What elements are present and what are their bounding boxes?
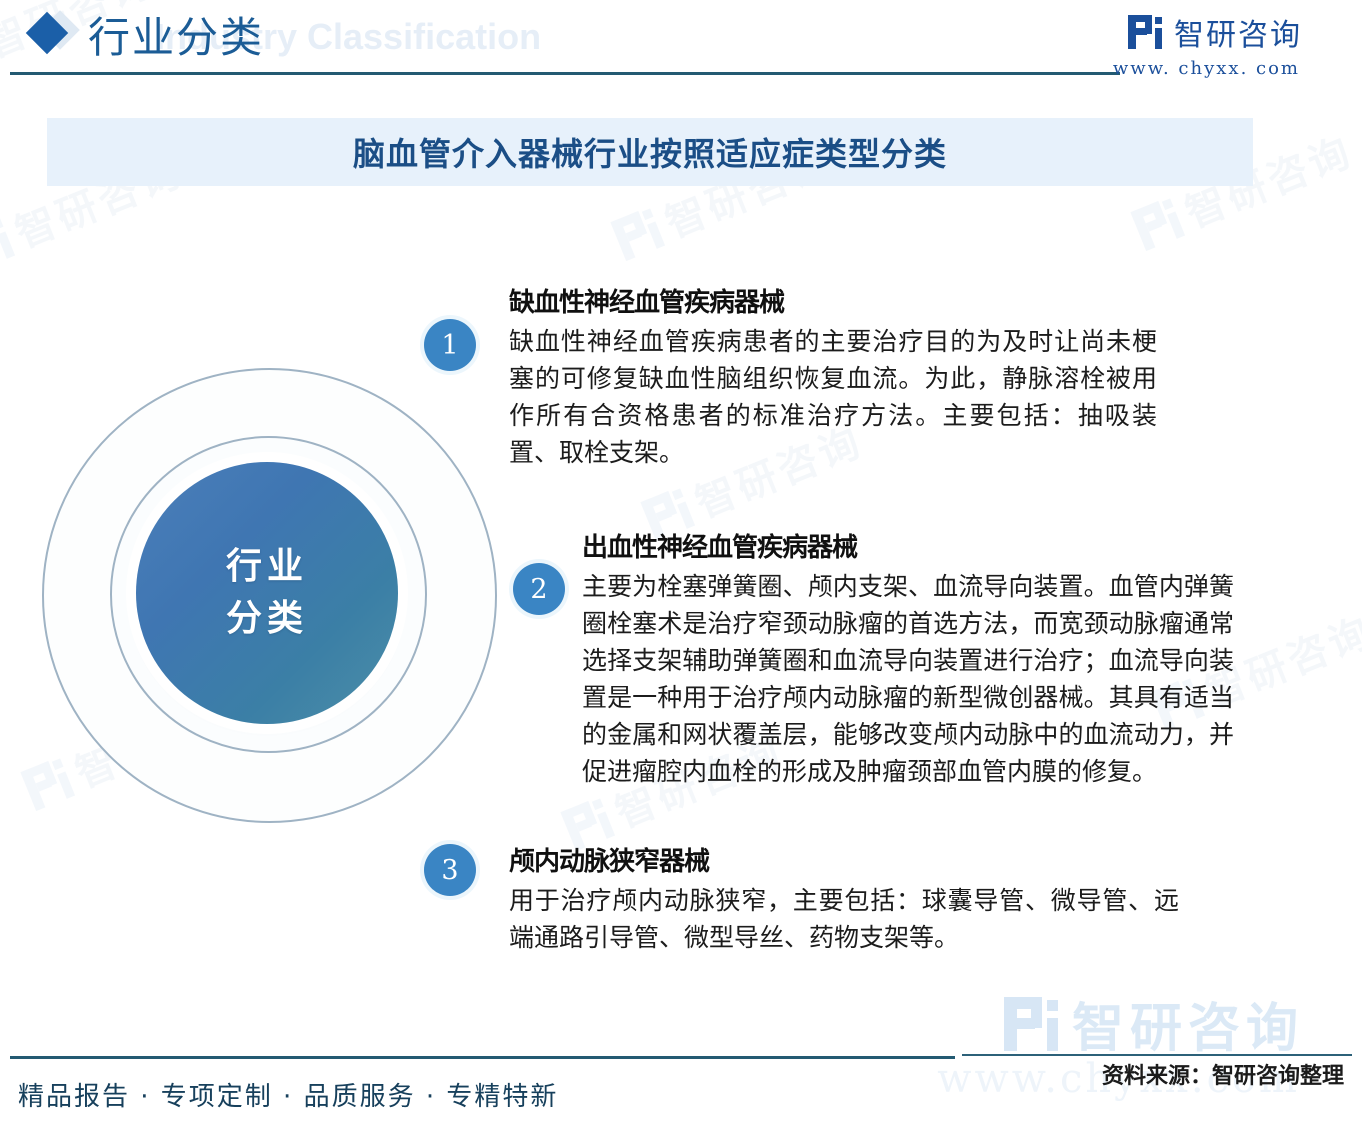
header-divider	[10, 72, 1120, 75]
list-item: 出血性神经血管疾病器械 主要为栓塞弹簧圈、颅内支架、血流导向装置。血管内弹簧圈栓…	[582, 527, 1234, 790]
brand-name: 智研咨询	[1174, 10, 1302, 54]
list-item-heading: 出血性神经血管疾病器械	[582, 527, 1234, 564]
list-item-body: 用于治疗颅内动脉狭窄，主要包括：球囊导管、微导管、远端通路引导管、微型导丝、药物…	[509, 882, 1179, 956]
diamond-icon	[30, 14, 74, 58]
page-title: 行业分类	[88, 4, 264, 65]
brand-url: www. chyxx. com	[1113, 58, 1300, 79]
footer-divider	[10, 1056, 955, 1059]
footer-slogan: 精品报告 · 专项定制 · 品质服务 · 专精特新	[18, 1076, 558, 1113]
list-item-body: 主要为栓塞弹簧圈、颅内支架、血流导向装置。血管内弹簧圈栓塞术是治疗窄颈动脉瘤的首…	[582, 568, 1234, 790]
source-note: 资料来源：智研咨询整理	[1102, 1058, 1344, 1090]
brand-logo: 智研咨询	[1128, 10, 1302, 54]
list-item-badge-3: 3	[424, 844, 476, 896]
list-item-badge-2: 2	[513, 563, 565, 615]
source-divider	[962, 1054, 1352, 1056]
list-item-badge-1: 1	[424, 319, 476, 371]
list-item-heading: 缺血性神经血管疾病器械	[509, 282, 1157, 319]
list-item: 缺血性神经血管疾病器械 缺血性神经血管疾病患者的主要治疗目的为及时让尚未梗塞的可…	[509, 282, 1157, 471]
list-item-body: 缺血性神经血管疾病患者的主要治疗目的为及时让尚未梗塞的可修复缺血性脑组织恢复血流…	[509, 323, 1157, 471]
list-item-heading: 颅内动脉狭窄器械	[509, 841, 1179, 878]
brand-mark-icon	[1128, 15, 1162, 49]
page-header: Industry Classification 行业分类 智研咨询 www. c…	[0, 0, 1362, 100]
list-item: 颅内动脉狭窄器械 用于治疗颅内动脉狭窄，主要包括：球囊导管、微导管、远端通路引导…	[509, 841, 1179, 956]
classification-list: 1 缺血性神经血管疾病器械 缺血性神经血管疾病患者的主要治疗目的为及时让尚未梗塞…	[0, 0, 1362, 1126]
